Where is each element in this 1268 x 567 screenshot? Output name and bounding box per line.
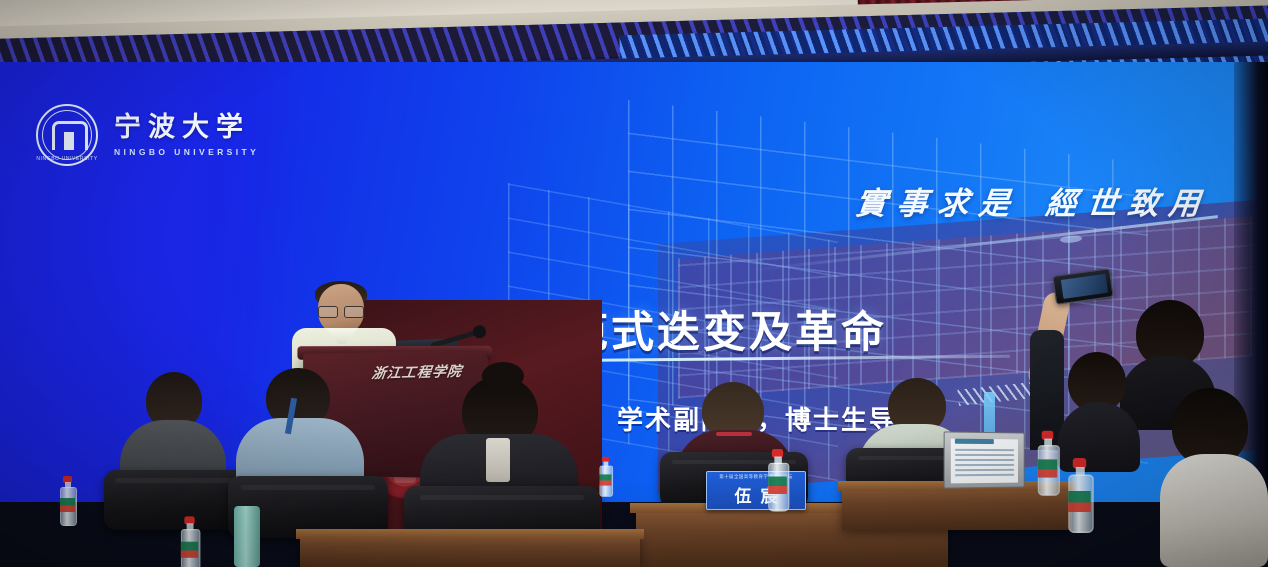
audience-person-8 — [1160, 388, 1268, 567]
audience-collar — [486, 438, 510, 482]
audience-table-left-edge — [296, 529, 644, 539]
slide-title: 学术评价范式迭变及革命 — [0, 298, 1268, 360]
audience-hair-bun — [482, 362, 524, 390]
university-logo: NINGBO UNIVERSITY 宁波大学 NINGBO UNIVERSITY — [36, 104, 259, 166]
motto-part-1: 實事求是 — [854, 186, 1022, 222]
water-bottle — [181, 516, 198, 567]
water-bottle — [1038, 431, 1058, 493]
audience-chair-1 — [104, 470, 246, 530]
audience-torso — [1160, 454, 1268, 567]
audience-lanyard — [716, 432, 752, 436]
phone-screen — [1061, 274, 1108, 299]
university-name-cn: 宁波大学 — [114, 114, 259, 141]
university-name-en: NINGBO UNIVERSITY — [114, 148, 259, 157]
water-bottle — [1068, 458, 1091, 530]
water-bottle — [60, 476, 75, 524]
seal-arc-text: NINGBO UNIVERSITY — [36, 156, 98, 162]
presenter-glasses-icon — [318, 306, 364, 316]
university-seal-icon: NINGBO UNIVERSITY — [36, 104, 98, 166]
water-bottle — [600, 457, 612, 495]
green-tumbler — [234, 506, 260, 567]
motto-part-2: 經世致用 — [1044, 186, 1212, 222]
lecture-hall-photo: NI NINGBO UNIVERSITY 宁波大学 NINGBO UNIVERS… — [0, 0, 1268, 567]
university-motto: 實事求是經世致用 — [854, 178, 1213, 223]
water-bottle — [768, 449, 787, 509]
name-placard: 第十届全国高等教育学博士生论坛 伍宸 — [706, 471, 806, 510]
university-name: 宁波大学 NINGBO UNIVERSITY — [114, 114, 259, 157]
audience-laptop[interactable] — [944, 431, 1025, 488]
laptop-document — [951, 439, 1018, 484]
audience-person-7 — [1058, 352, 1140, 472]
